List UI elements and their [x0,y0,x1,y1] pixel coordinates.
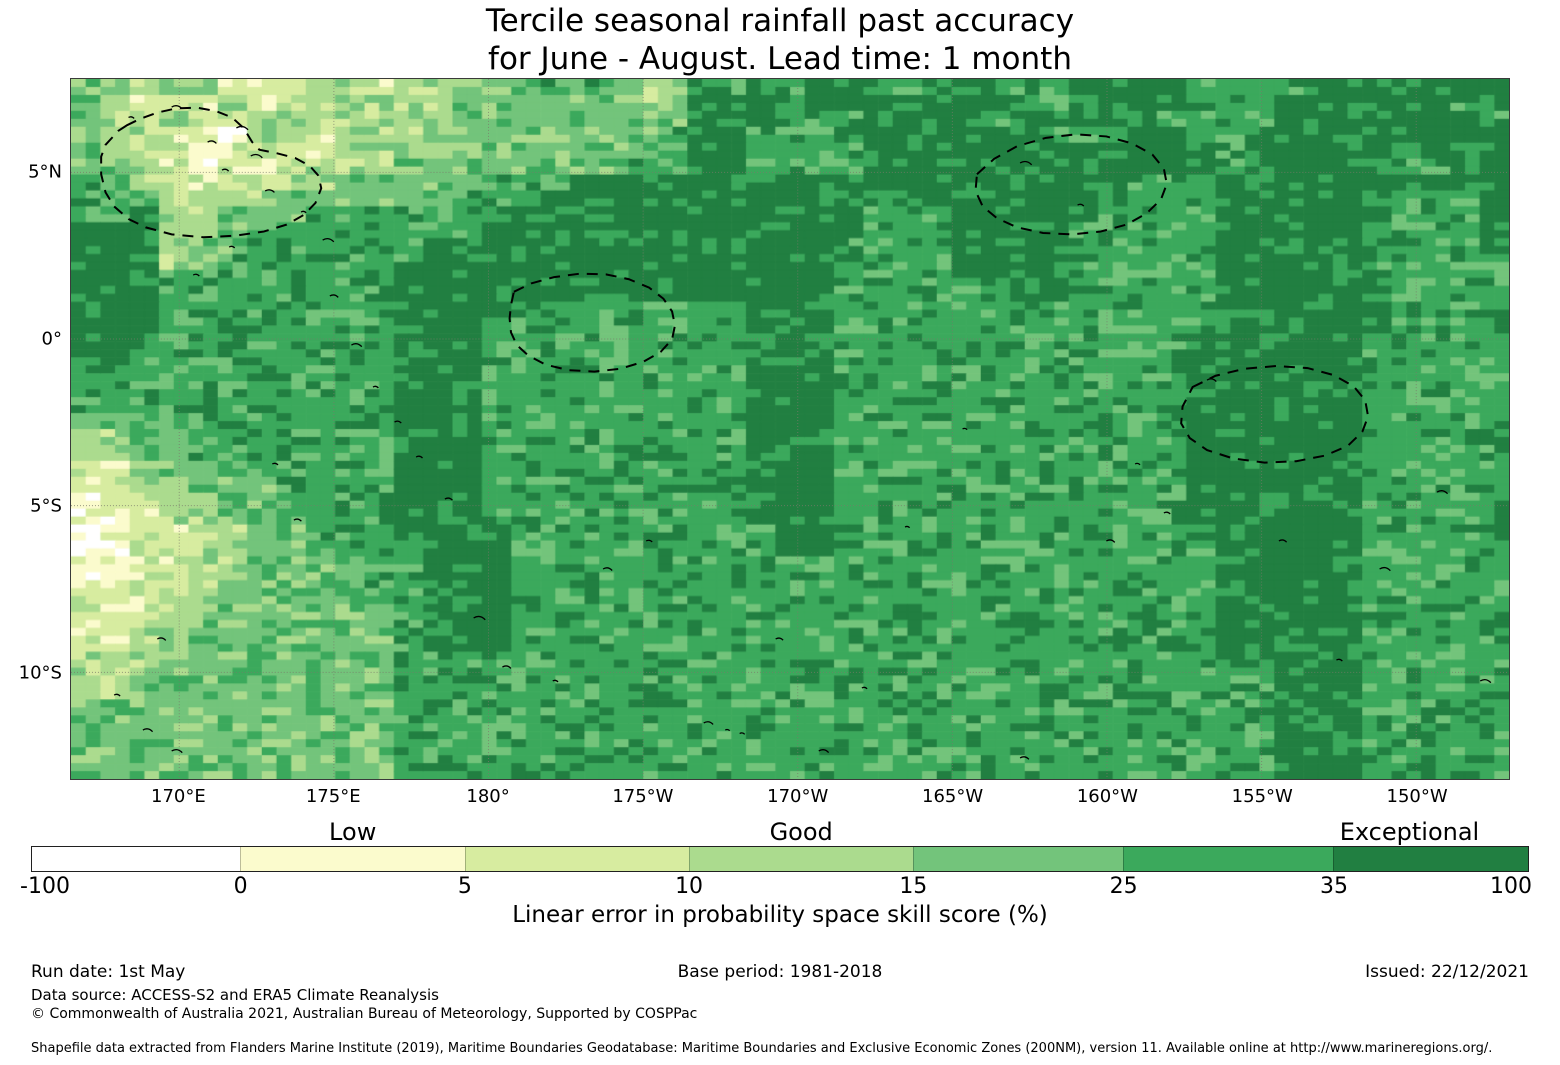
x-tick-label-4: 170°W [767,786,828,807]
colorbar-category-labels: LowGoodExceptional [0,818,1560,846]
colorbar-category-2: Exceptional [1340,818,1480,846]
colorbar-tick-5: 25 [1110,874,1138,899]
colorbar-band-2[interactable] [465,847,689,871]
x-tick-label-3: 175°W [612,786,673,807]
title-line-1: Tercile seasonal rainfall past accuracy [0,2,1560,40]
x-tick-label-0: 170°E [151,786,206,807]
x-tick-label-8: 150°W [1387,786,1448,807]
colorbar-band-5[interactable] [1123,847,1333,871]
map-plot-area[interactable] [70,78,1510,780]
colorbar-category-1: Good [770,818,833,846]
footer-shapefile-note: Shapefile data extracted from Flanders M… [31,1041,1492,1056]
colorbar-tick-3: 10 [675,874,703,899]
colorbar-band-4[interactable] [913,847,1123,871]
colorbar-band-0[interactable] [32,847,240,871]
footer-issued-date: Issued: 22/12/2021 [1365,962,1529,982]
colorbar-category-0: Low [329,818,376,846]
x-tick-label-7: 155°W [1232,786,1293,807]
footer-top-row: Run date: 1st May Base period: 1981-2018… [0,962,1560,986]
footer-copyright: © Commonwealth of Australia 2021, Austra… [31,1006,697,1022]
map-overlay [71,79,1509,779]
colorbar-tick-6: 35 [1320,874,1348,899]
title-line-2: for June - August. Lead time: 1 month [0,40,1560,78]
colorbar-band-1[interactable] [240,847,464,871]
gridlines [71,79,1509,779]
eez-boundary-lines [101,108,1368,463]
colorbar-tick-7: 100 [1490,874,1532,899]
y-tick-label-0: 5°N [28,161,62,182]
footer-run-date: Run date: 1st May [31,962,185,982]
y-tick-label-3: 10°S [19,663,62,684]
colorbar[interactable] [31,846,1529,872]
x-tick-label-6: 160°W [1077,786,1138,807]
colorbar-band-3[interactable] [689,847,913,871]
colorbar-tick-4: 15 [899,874,927,899]
x-tick-label-2: 180° [466,786,509,807]
colorbar-tick-labels: -1000510152535100 [0,874,1560,902]
colorbar-tick-1: 0 [234,874,248,899]
footer-data-source: Data source: ACCESS-S2 and ERA5 Climate … [31,986,439,1004]
x-tick-label-5: 165°W [922,786,983,807]
figure-canvas: Tercile seasonal rainfall past accuracy … [0,0,1560,1065]
footer-base-period: Base period: 1981-2018 [678,962,883,982]
page-title: Tercile seasonal rainfall past accuracy … [0,0,1560,78]
y-tick-label-2: 5°S [30,495,62,516]
coastline-islands [114,106,1491,760]
colorbar-band-6[interactable] [1333,847,1528,871]
colorbar-axis-label: Linear error in probability space skill … [31,902,1529,928]
x-tick-label-1: 175°E [306,786,361,807]
y-tick-label-1: 0° [42,328,62,349]
colorbar-tick-2: 5 [458,874,472,899]
colorbar-tick-0: -100 [20,874,70,899]
